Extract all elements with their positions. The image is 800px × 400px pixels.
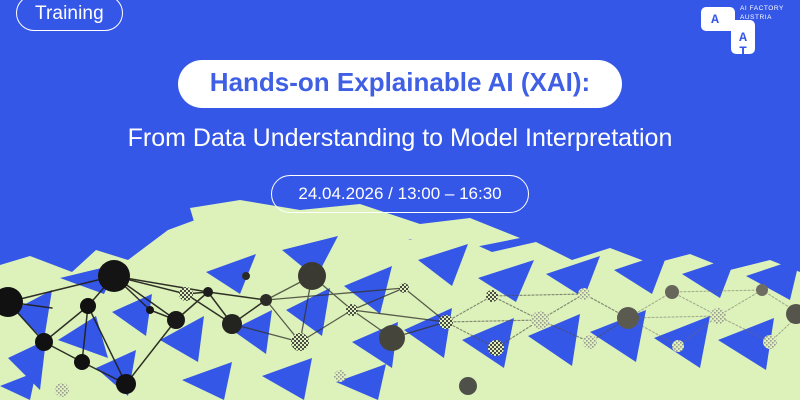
logo-letter-t: T xyxy=(739,44,747,55)
logo-letter-a-right: A xyxy=(739,30,747,45)
logo-wordmark: AI FACTORY AUSTRIA xyxy=(740,4,784,23)
training-badge-label: Training xyxy=(35,4,104,23)
logo-wordmark-line1: AI FACTORY xyxy=(740,4,784,13)
logo-wordmark-line2: AUSTRIA xyxy=(740,13,784,22)
logo-letter-colon: : xyxy=(724,30,732,45)
event-datetime-badge: 24.04.2026 / 13:00 – 16:30 xyxy=(271,175,528,213)
ai-factory-austria-logo: A I : A T AI FACTORY AUSTRIA xyxy=(700,2,792,56)
training-badge: Training xyxy=(16,0,123,31)
event-title: Hands-on Explainable AI (XAI): xyxy=(178,60,622,108)
event-subtitle: From Data Understanding to Model Interpr… xyxy=(128,123,673,153)
event-poster: Training A I : A T AI FACTORY AUSTRIA Ha… xyxy=(0,0,800,400)
network-graph-illustration xyxy=(0,190,800,400)
logo-letter-i: I xyxy=(711,30,719,45)
logo-letter-a-top: A xyxy=(711,12,719,27)
headline-block: Hands-on Explainable AI (XAI): From Data… xyxy=(0,60,800,213)
